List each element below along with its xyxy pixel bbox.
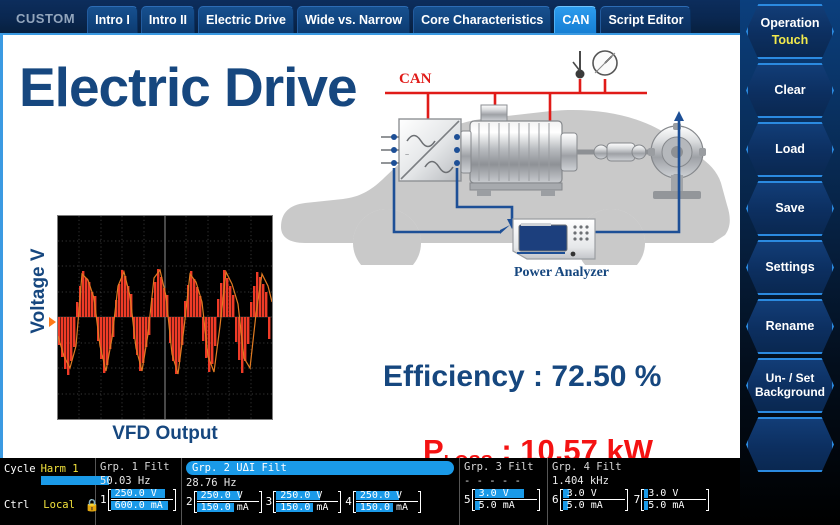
group-4-frequency: 1.404 kHz xyxy=(552,475,734,487)
channel-2-current: 150.0 mA xyxy=(197,502,259,513)
tab-electric-drive[interactable]: Electric Drive xyxy=(198,6,294,33)
tab-script-editor[interactable]: Script Editor xyxy=(600,6,691,33)
channel-5-voltage: 3.0 V xyxy=(475,488,537,499)
sidebar-button-operation[interactable]: Operation Touch xyxy=(746,4,834,59)
scope-svg xyxy=(58,216,272,419)
group-2-header: Grp. 2 UΔI Filt xyxy=(186,461,454,475)
channel-row: 5 3.0 V 5.0 mA xyxy=(464,488,543,511)
waveform-scope: Voltage V xyxy=(17,210,277,458)
tab-can[interactable]: CAN xyxy=(554,6,597,33)
channel-1-number: 1 xyxy=(100,493,107,506)
channel-row: 4 250.0 V 150.0 mA xyxy=(345,490,421,513)
status-group-1[interactable]: Grp. 1 Filt 50.03 Hz 1 250.0 V 600.0 mA xyxy=(96,458,182,525)
status-group-2[interactable]: Grp. 2 UΔI Filt 28.76 Hz 2 250.0 V 150.0… xyxy=(182,458,460,525)
ctrl-value[interactable]: Local xyxy=(43,499,75,511)
channel-row: 7 3.0 V 5.0 mA xyxy=(634,488,710,511)
svg-text:~: ~ xyxy=(405,152,409,159)
group-3-frequency: - - - - - xyxy=(464,475,543,487)
channel-5-current: 5.0 mA xyxy=(475,500,537,511)
ploss-separator: : xyxy=(493,433,521,458)
channel-row: 6 3.0 V 5.0 mA xyxy=(552,488,628,511)
efficiency-readout: Efficiency : 72.50 % xyxy=(383,360,661,394)
efficiency-label: Efficiency : xyxy=(383,360,551,393)
status-bar: Cycle Harm 1 Ctrl Local 🔒 Grp. 1 Filt 50… xyxy=(0,458,740,525)
tab-intro-i[interactable]: Intro I xyxy=(87,6,138,33)
sidebar-button-settings[interactable]: Settings xyxy=(746,240,834,295)
sidebar-button-save-label: Save xyxy=(775,201,804,215)
channel-7-current: 5.0 mA xyxy=(644,500,706,511)
group-2-frequency: 28.76 Hz xyxy=(186,477,455,489)
can-label: CAN xyxy=(399,71,432,87)
channel-4-voltage: 250.0 V xyxy=(356,490,418,501)
channel-1-voltage: 250.0 V xyxy=(111,488,173,499)
sidebar-button-operation-label: Operation xyxy=(760,16,819,30)
sidebar-button-clear[interactable]: Clear xyxy=(746,63,834,118)
sidebar-button-empty[interactable] xyxy=(746,417,834,472)
channel-5-number: 5 xyxy=(464,493,471,506)
channel-6-voltage: 3.0 V xyxy=(563,488,625,499)
tab-bar: CUSTOM Intro I Intro II Electric Drive W… xyxy=(0,0,740,33)
ploss-label: P xyxy=(423,433,444,458)
channel-3-current: 150.0 mA xyxy=(276,502,338,513)
channel-1-current: 600.0 mA xyxy=(111,500,173,511)
sidebar-button-load[interactable]: Load xyxy=(746,122,834,177)
sidebar-button-save[interactable]: Save xyxy=(746,181,834,236)
power-loss-readout: PLOSS : 10.57 kW xyxy=(423,433,653,458)
channel-row: 1 250.0 V 600.0 mA xyxy=(100,488,177,511)
group-4-header: Grp. 4 Filt xyxy=(552,461,734,473)
power-analyzer-icon xyxy=(513,219,595,259)
tab-core-characteristics[interactable]: Core Characteristics xyxy=(413,6,551,33)
ctrl-label: Ctrl xyxy=(4,499,29,511)
power-analyzer-label: Power Analyzer xyxy=(514,265,609,280)
channel-3-voltage: 250.0 V xyxy=(276,490,338,501)
sidebar-button-rename[interactable]: Rename xyxy=(746,299,834,354)
channel-6-number: 6 xyxy=(552,493,559,506)
channel-2-voltage: 250.0 V xyxy=(197,490,259,501)
channel-row: 3 250.0 V 150.0 mA xyxy=(266,490,342,513)
sidebar-button-rename-label: Rename xyxy=(766,319,815,333)
custom-label: CUSTOM xyxy=(6,11,87,33)
channel-row: 2 250.0 V 150.0 mA xyxy=(186,490,262,513)
group-1-header: Grp. 1 Filt xyxy=(100,461,177,473)
sidebar-button-unset-background[interactable]: Un- / Set Background xyxy=(746,358,834,413)
gauge-icon xyxy=(593,51,617,75)
channel-7-voltage: 3.0 V xyxy=(644,488,706,499)
scope-canvas[interactable] xyxy=(57,215,273,420)
tab-wide-vs-narrow[interactable]: Wide vs. Narrow xyxy=(297,6,410,33)
cycle-label: Cycle xyxy=(4,463,36,475)
main-content-panel: Electric Drive xyxy=(0,33,740,458)
status-group-4[interactable]: Grp. 4 Filt 1.404 kHz 6 3.0 V 5.0 mA xyxy=(548,458,738,525)
channel-6-current: 5.0 mA xyxy=(563,500,625,511)
tab-intro-ii[interactable]: Intro II xyxy=(141,6,195,33)
sidebar: Operation Touch Clear Load Save Settings… xyxy=(740,0,840,525)
sidebar-button-operation-value: Touch xyxy=(772,33,809,47)
sidebar-button-load-label: Load xyxy=(775,142,805,156)
sidebar-button-settings-label: Settings xyxy=(765,260,814,274)
status-group-3[interactable]: Grp. 3 Filt - - - - - 5 3.0 V 5.0 mA xyxy=(460,458,548,525)
powertrain-diagram: CAN ~ xyxy=(265,37,740,337)
channel-7-number: 7 xyxy=(634,493,641,506)
sidebar-button-clear-label: Clear xyxy=(774,83,805,97)
scope-y-axis-label: Voltage V xyxy=(28,231,50,351)
sidebar-button-unset-background-label: Un- / Set Background xyxy=(755,372,825,400)
status-cycle-block: Cycle Harm 1 Ctrl Local 🔒 xyxy=(0,458,96,525)
cursor-marker-icon xyxy=(49,317,56,327)
efficiency-value: 72.50 % xyxy=(551,360,661,393)
channel-4-number: 4 xyxy=(345,495,352,508)
thermocouple-icon xyxy=(573,51,585,79)
channel-3-number: 3 xyxy=(266,495,273,508)
diagram-svg: CAN ~ xyxy=(265,37,740,337)
channel-4-current: 150.0 mA xyxy=(356,502,418,513)
group-3-header: Grp. 3 Filt xyxy=(464,461,543,473)
channel-2-number: 2 xyxy=(186,495,193,508)
scope-x-axis-label: VFD Output xyxy=(57,423,273,445)
group-1-frequency: 50.03 Hz xyxy=(100,475,177,487)
ploss-value: 10.57 kW xyxy=(520,433,653,458)
